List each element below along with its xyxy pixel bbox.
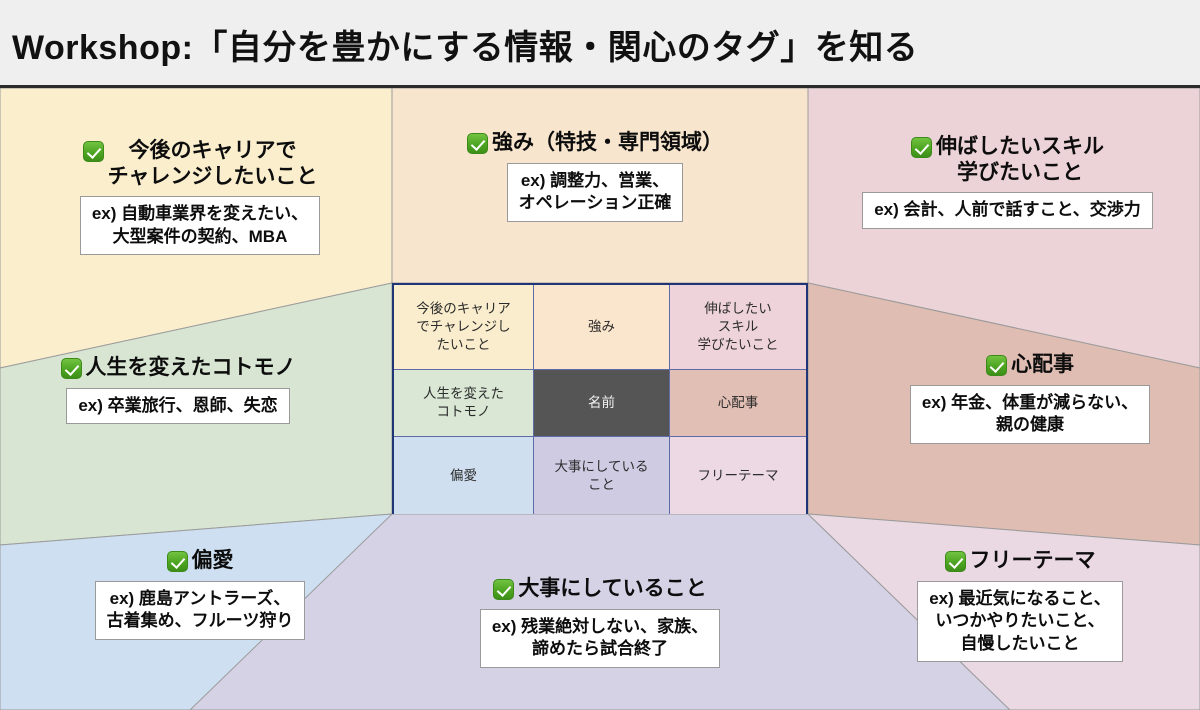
example-box-strength: ex) 調整力、営業、 オペレーション正確 — [507, 163, 684, 222]
check-icon — [61, 358, 82, 379]
section-heading-text: 偏愛 — [192, 548, 234, 574]
example-box-worry: ex) 年金、体重が減らない、 親の健康 — [910, 385, 1150, 444]
section-heading-value: 大事にしていること — [435, 576, 765, 602]
grid-cell-label: 人生を変えた コトモノ — [423, 385, 504, 421]
grid-cell-label: 偏愛 — [450, 467, 477, 485]
section-heading-skill: 伸ばしたいスキル 学びたいこと — [820, 134, 1195, 185]
section-heading-text: 心配事 — [1011, 352, 1074, 378]
example-box-value: ex) 残業絶対しない、家族、 諦めたら試合終了 — [480, 609, 720, 668]
section-heading-career: 今後のキャリアで チャレンジしたいこと — [20, 138, 380, 189]
section-free: フリーテーマ ex) 最近気になること、 いつかやりたいこと、 自慢したいこと — [855, 548, 1185, 662]
grid-cell-label: 名前 — [588, 394, 615, 412]
example-box-free: ex) 最近気になること、 いつかやりたいこと、 自慢したいこと — [917, 581, 1123, 663]
page-title: Workshop:「自分を豊かにする情報・関心のタグ」を知る — [12, 20, 918, 69]
grid-cell-label: 心配事 — [718, 394, 759, 412]
section-worry: 心配事 ex) 年金、体重が減らない、 親の健康 — [860, 352, 1200, 444]
section-heading-worry: 心配事 — [860, 352, 1200, 378]
section-heading-text: 伸ばしたいスキル 学びたいこと — [936, 134, 1104, 185]
section-heading-text: 強み（特技・専門領域） — [492, 130, 723, 156]
section-heading-text: 今後のキャリアで チャレンジしたいこと — [108, 138, 318, 189]
section-heading-text: 大事にしていること — [518, 576, 706, 602]
check-icon — [467, 133, 488, 154]
grid-cell-value[interactable]: 大事にしている こと — [534, 437, 670, 514]
section-heading-bias: 偏愛 — [40, 548, 360, 574]
check-icon — [986, 355, 1007, 376]
grid-cell-skill[interactable]: 伸ばしたい スキル 学びたいこと — [670, 285, 806, 370]
section-heading-text: 人生を変えたコトモノ — [86, 355, 296, 381]
section-heading-free: フリーテーマ — [855, 548, 1185, 574]
section-heading-text: フリーテーマ — [970, 548, 1096, 574]
grid-cell-label: フリーテーマ — [698, 467, 779, 485]
check-icon — [167, 551, 188, 572]
section-bias: 偏愛 ex) 鹿島アントラーズ、 古着集め、フルーツ狩り — [40, 548, 360, 640]
grid-cell-strength[interactable]: 強み — [534, 285, 670, 370]
check-icon — [945, 551, 966, 572]
grid-cell-career[interactable]: 今後のキャリア でチャレンジし たいこと — [394, 285, 534, 370]
grid-cell-free[interactable]: フリーテーマ — [670, 437, 806, 514]
section-heading-strength: 強み（特技・専門領域） — [420, 130, 770, 156]
grid-cell-worry[interactable]: 心配事 — [670, 370, 806, 437]
example-box-career: ex) 自動車業界を変えたい、 大型案件の契約、MBA — [80, 196, 320, 255]
header-divider — [0, 85, 1200, 88]
center-grid: 今後のキャリア でチャレンジし たいこと 強み 伸ばしたい スキル 学びたいこと… — [392, 283, 808, 514]
grid-cell-label: 伸ばしたい スキル 学びたいこと — [698, 300, 779, 353]
grid-cell-bias[interactable]: 偏愛 — [394, 437, 534, 514]
grid-cell-label: 今後のキャリア でチャレンジし たいこと — [416, 300, 511, 353]
slide-canvas: Workshop:「自分を豊かにする情報・関心のタグ」を知る 今後のキャリア で… — [0, 0, 1200, 710]
check-icon — [83, 141, 104, 162]
section-life: 人生を変えたコトモノ ex) 卒業旅行、恩師、失恋 — [8, 355, 348, 424]
check-icon — [493, 579, 514, 600]
grid-cell-label: 大事にしている こと — [554, 458, 648, 494]
grid-cell-name[interactable]: 名前 — [534, 370, 670, 437]
example-box-life: ex) 卒業旅行、恩師、失恋 — [66, 388, 289, 425]
check-icon — [911, 137, 932, 158]
section-strength: 強み（特技・専門領域） ex) 調整力、営業、 オペレーション正確 — [420, 130, 770, 222]
section-value: 大事にしていること ex) 残業絶対しない、家族、 諦めたら試合終了 — [435, 576, 765, 668]
section-skill: 伸ばしたいスキル 学びたいこと ex) 会計、人前で話すこと、交渉力 — [820, 134, 1195, 229]
section-career: 今後のキャリアで チャレンジしたいこと ex) 自動車業界を変えたい、 大型案件… — [20, 138, 380, 255]
example-box-bias: ex) 鹿島アントラーズ、 古着集め、フルーツ狩り — [95, 581, 306, 640]
grid-cell-life[interactable]: 人生を変えた コトモノ — [394, 370, 534, 437]
grid-cell-label: 強み — [588, 318, 615, 336]
example-box-skill: ex) 会計、人前で話すこと、交渉力 — [862, 192, 1153, 229]
header-bar: Workshop:「自分を豊かにする情報・関心のタグ」を知る — [0, 0, 1200, 88]
section-heading-life: 人生を変えたコトモノ — [8, 355, 348, 381]
